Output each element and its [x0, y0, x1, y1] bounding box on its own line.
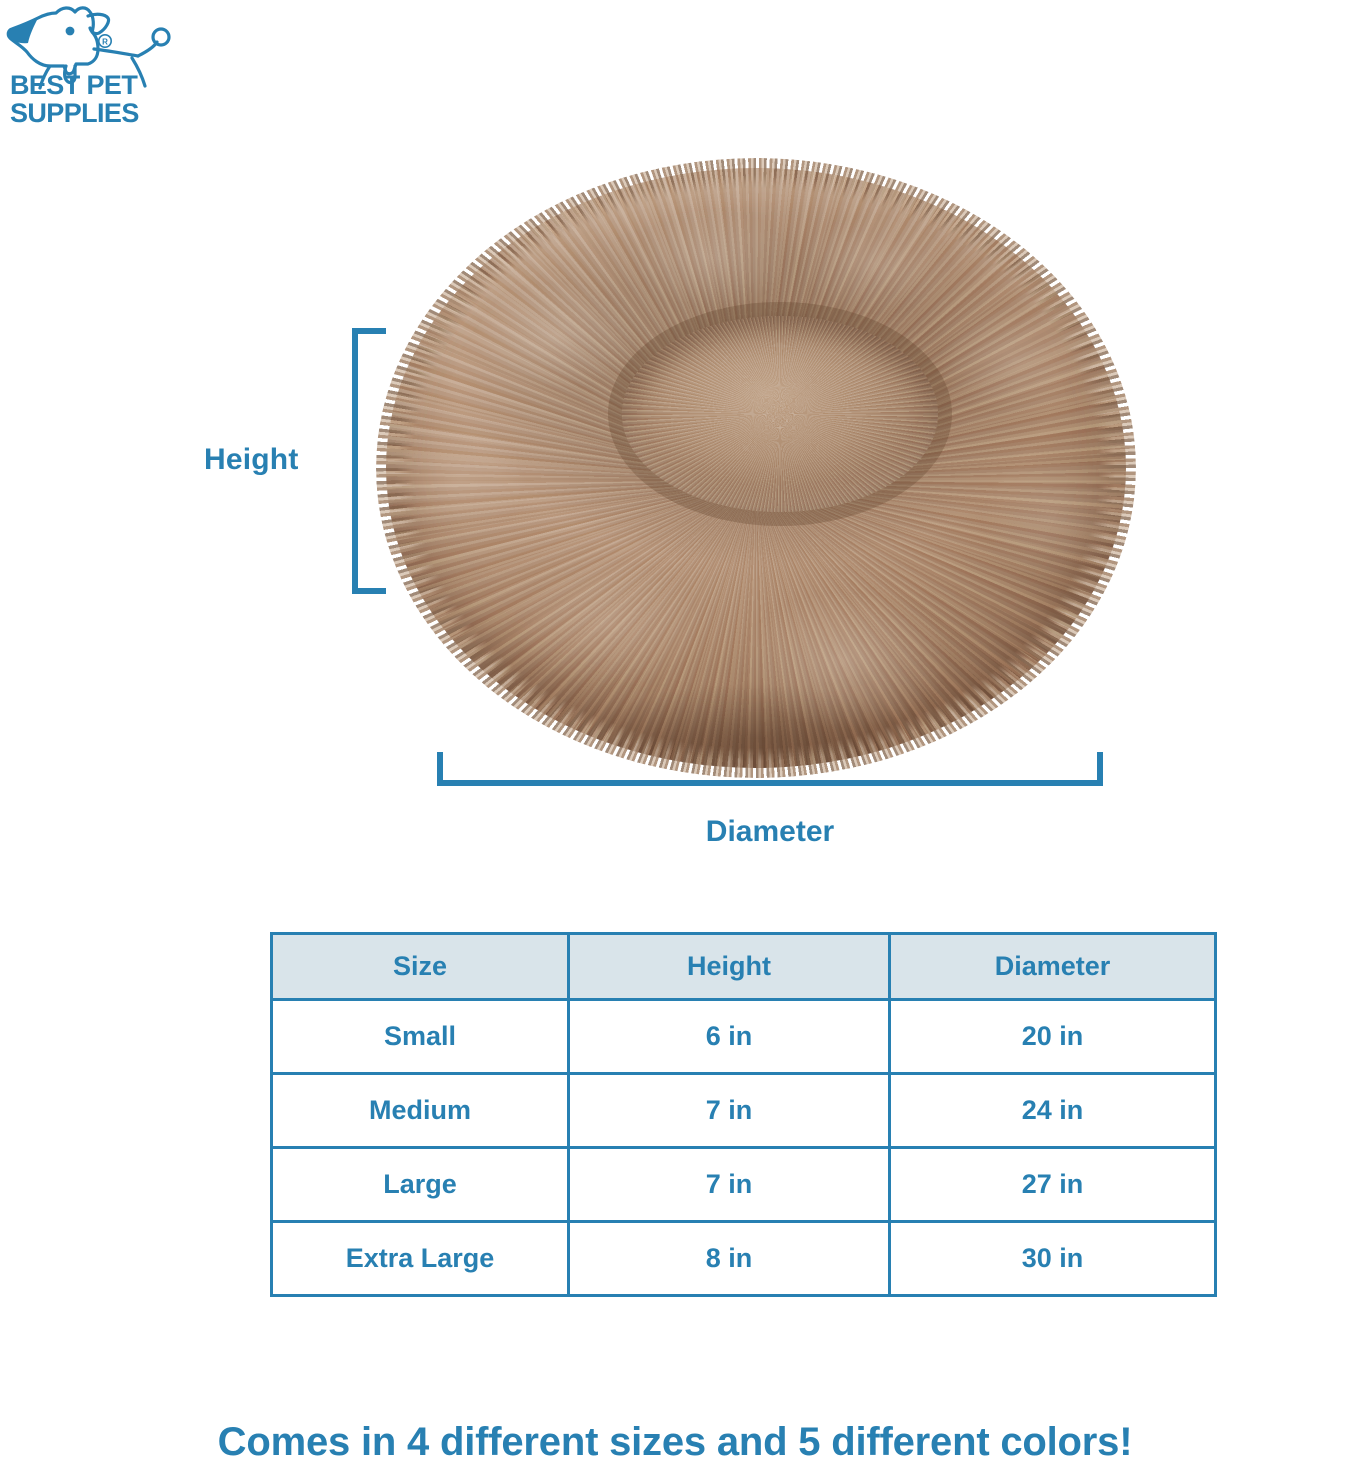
infographic-page: R BEST PET SUPPLIES Height Diameter Size: [0, 0, 1350, 1475]
cell-size: Medium: [272, 1074, 569, 1148]
best-pet-supplies-logo: R BEST PET SUPPLIES: [4, 4, 176, 132]
size-chart-table: Size Height Diameter Small 6 in 20 in Me…: [270, 932, 1217, 1297]
table-header-row: Size Height Diameter: [272, 934, 1216, 1000]
table-row: Small 6 in 20 in: [272, 1000, 1216, 1074]
cell-height: 8 in: [569, 1222, 890, 1296]
bed-inner-cushion: [622, 316, 938, 512]
logo-line-1: BEST PET: [10, 70, 138, 100]
cell-size: Small: [272, 1000, 569, 1074]
height-measurement-bracket: [352, 328, 386, 594]
cell-height: 7 in: [569, 1148, 890, 1222]
column-header-size: Size: [272, 934, 569, 1000]
tagline-text: Comes in 4 different sizes and 5 differe…: [0, 1420, 1350, 1465]
height-bracket-line: [352, 328, 358, 594]
table-row: Medium 7 in 24 in: [272, 1074, 1216, 1148]
cell-size: Extra Large: [272, 1222, 569, 1296]
cell-diameter: 24 in: [890, 1074, 1216, 1148]
dog-eye-icon: [66, 27, 75, 36]
diameter-bracket-line: [437, 780, 1103, 786]
cell-height: 6 in: [569, 1000, 890, 1074]
diameter-bracket-right-tick: [1097, 752, 1103, 786]
dog-nose-icon: [8, 18, 38, 43]
diameter-measurement-bracket: [437, 752, 1103, 786]
column-header-height: Height: [569, 934, 890, 1000]
logo-line-2: SUPPLIES: [10, 98, 139, 128]
cell-diameter: 20 in: [890, 1000, 1216, 1074]
cell-diameter: 30 in: [890, 1222, 1216, 1296]
cell-size: Large: [272, 1148, 569, 1222]
column-header-diameter: Diameter: [890, 934, 1216, 1000]
cell-diameter: 27 in: [890, 1148, 1216, 1222]
diameter-label: Diameter: [437, 815, 1103, 849]
cell-height: 7 in: [569, 1074, 890, 1148]
table-row: Large 7 in 27 in: [272, 1148, 1216, 1222]
height-bracket-bottom-tick: [352, 588, 386, 594]
height-label: Height: [204, 443, 344, 477]
table-row: Extra Large 8 in 30 in: [272, 1222, 1216, 1296]
registered-trademark-letter: R: [102, 38, 108, 47]
product-image-pet-bed: [386, 168, 1126, 768]
